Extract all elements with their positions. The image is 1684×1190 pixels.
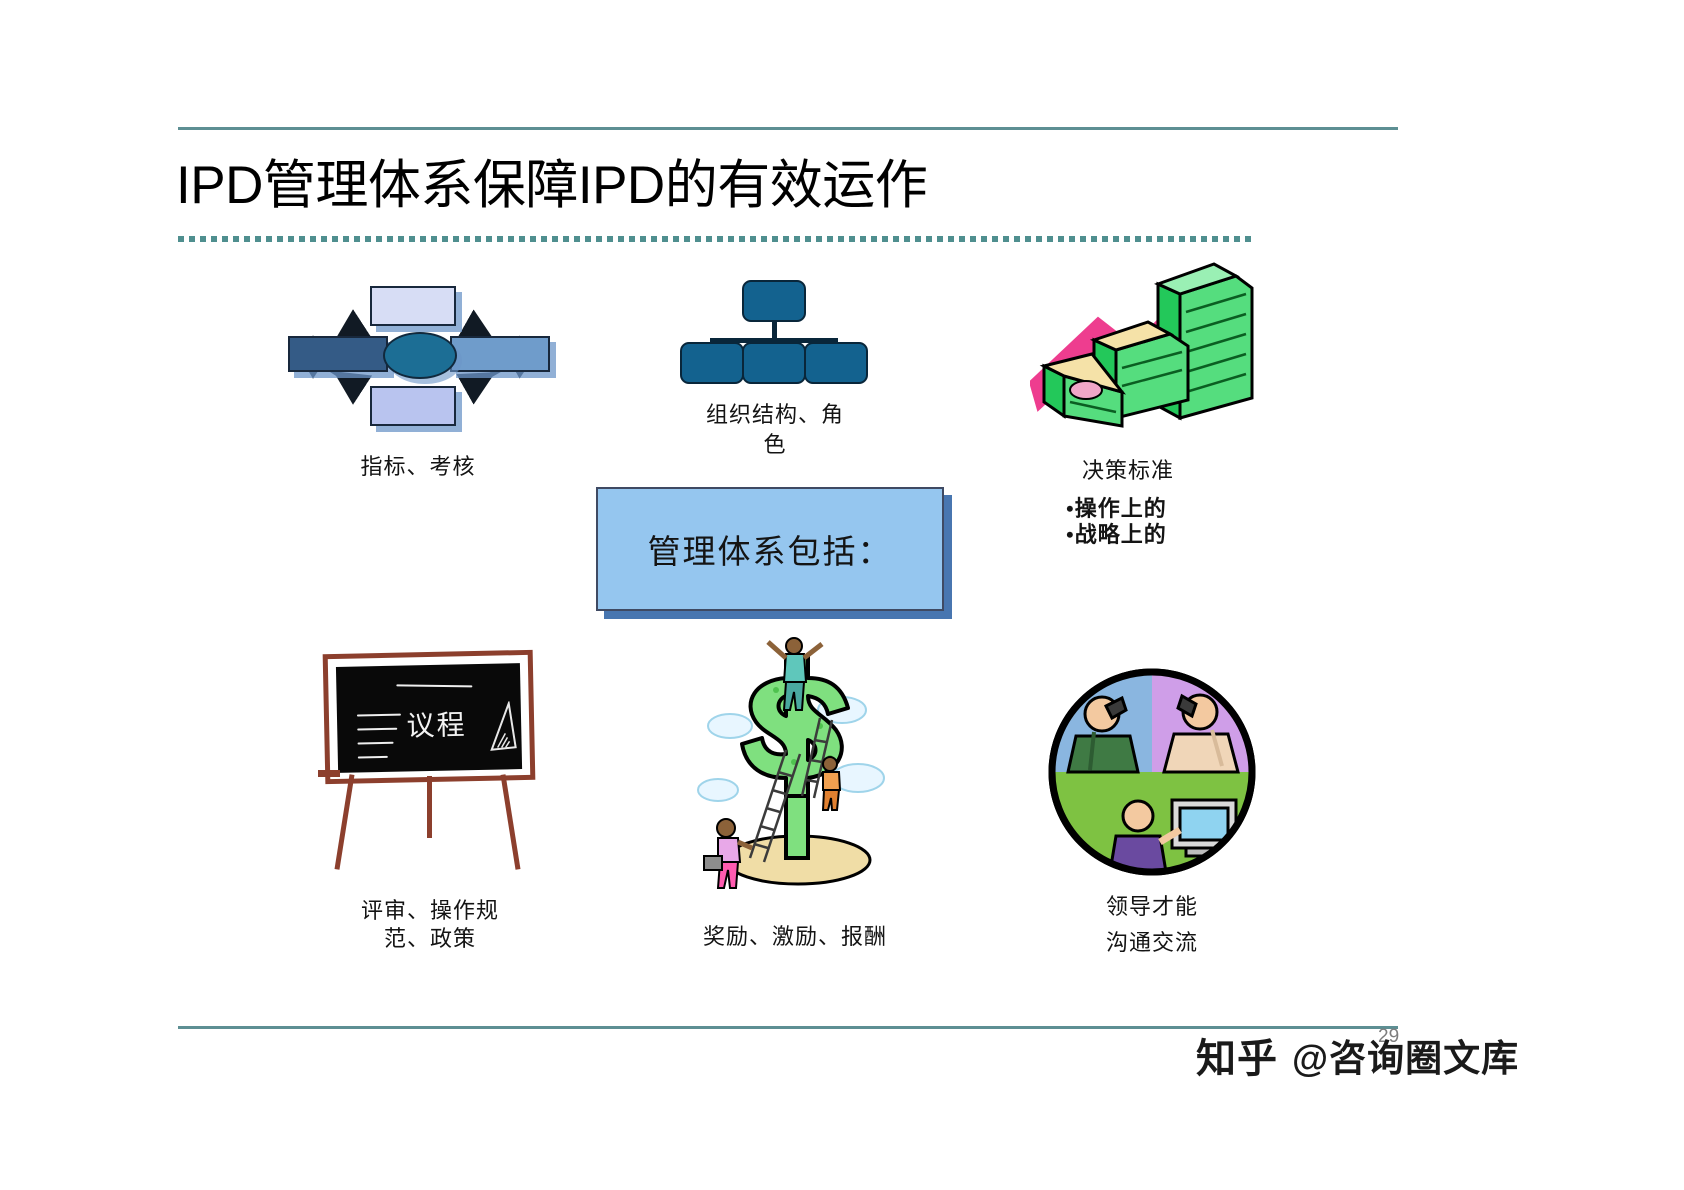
money-tree-climb-icon [690,630,900,892]
caption-metrics: 指标、考核 [298,452,538,482]
org-node-child-3 [804,342,868,384]
chalk-stroke [358,742,394,745]
center-box-label: 管理体系包括： [648,525,893,573]
teamwork-circle-icon [1046,666,1258,878]
climber-figure-mid [823,757,840,810]
money-tree-svg [690,630,900,892]
bullet-dot-icon: • [1066,496,1075,521]
caption-review-policy-line1: 评审、操作规 [310,896,550,926]
management-system-center-box: 管理体系包括： [596,487,944,611]
money-stack-growth-arrow-icon [1030,250,1260,440]
zhihu-logo: 知乎 [1196,1026,1278,1084]
chalk-stroke [357,714,401,717]
chalk-stroke [396,684,472,687]
bullet-text: 战略上的 [1075,522,1167,547]
caption-org-structure-line2: 色 [660,430,890,460]
page-title: IPD管理体系保障IPD的有效运作 [176,152,1376,220]
caption-decision-criteria: 决策标准 [1082,456,1322,486]
hub-box-bottom [370,386,456,426]
bullet-decision-strategic: •战略上的 [1066,520,1316,550]
caption-review-policy-line2: 范、政策 [310,924,550,954]
hub-and-spoke-diagram-icon [288,286,550,408]
chalk-stroke [357,728,397,731]
hub-box-top [370,286,456,326]
caption-reward-incentive: 奖励、激励、报酬 [680,922,910,952]
title-dotted-rule [178,236,1254,242]
caption-leadership-line1: 领导才能 [1036,892,1268,922]
easel-leg-center [427,776,432,838]
blackboard-easel-icon: 议程 [312,646,544,878]
chalk-stroke [358,756,388,759]
watermark: 知乎 @咨询圈文库 [1196,1026,1519,1084]
bullet-text: 操作上的 [1075,496,1167,521]
caption-org-structure-line1: 组织结构、角 [660,400,890,430]
chalk-triangle-icon [457,701,518,762]
easel-leg-right [501,774,521,870]
blackboard-frame: 议程 [323,650,536,784]
org-node-child-2 [742,342,806,384]
easel-tray [318,770,340,777]
hub-box-right [450,336,550,372]
slide-canvas: IPD管理体系保障IPD的有效运作 指标、考核 [0,0,1684,1190]
hub-box-left [288,336,388,372]
easel-leg-left [335,774,355,870]
money-stack-svg [1030,250,1260,440]
blackboard-face: 议程 [336,663,522,773]
org-node-child-1 [680,342,744,384]
caption-leadership-line2: 沟通交流 [1036,928,1268,958]
hub-center-ellipse [383,332,457,379]
organization-chart-icon [680,280,870,378]
header-rule [178,127,1398,130]
org-node-root [742,280,806,322]
teamwork-circle-svg [1046,666,1258,878]
bullet-dot-icon: • [1066,522,1075,547]
watermark-handle: @咨询圈文库 [1292,1028,1519,1082]
